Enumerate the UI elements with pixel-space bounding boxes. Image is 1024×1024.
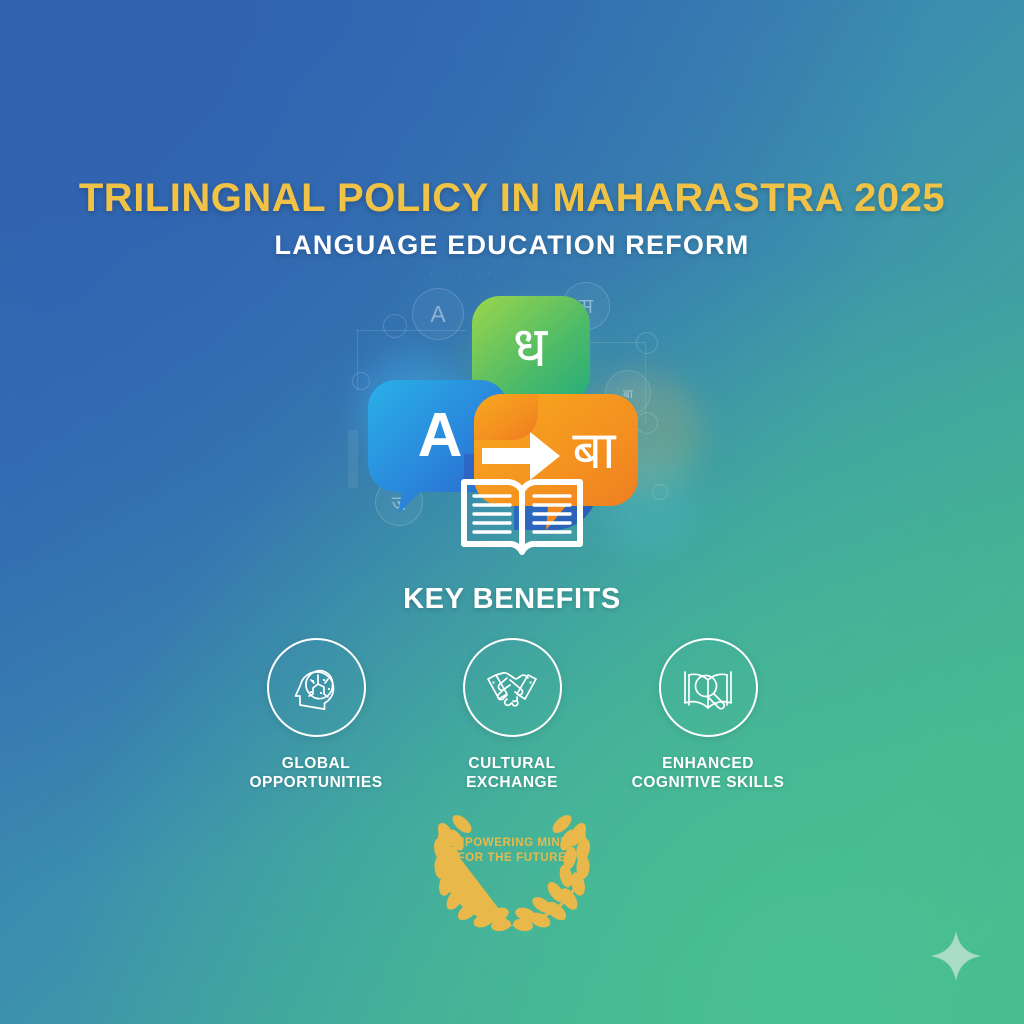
badge-text-line2: FOR THE FUTURE — [412, 851, 612, 866]
benefit-label-line2: EXCHANGE — [466, 773, 558, 792]
brain-head-icon-circle — [267, 638, 366, 737]
benefit-item-global-opportunities[interactable]: GLOBAL OPPORTUNITIES — [232, 638, 400, 792]
badge-text: EMPOWERING MINDS FOR THE FUTURE — [412, 836, 612, 866]
translation-emblem: ध A बा — [352, 276, 672, 572]
benefits-list: GLOBAL OPPORTUNITIES — [232, 638, 792, 792]
infographic-poster: A स ज बा · · · · · · · · · · · · · TRILI… — [0, 0, 1024, 1024]
laurel-badge: EMPOWERING MINDS FOR THE FUTURE — [412, 798, 612, 933]
benefit-label-line2: COGNITIVE SKILLS — [632, 773, 785, 792]
english-bubble-letter: A — [418, 401, 463, 470]
handshake-icon — [482, 658, 542, 718]
benefit-label-cultural-exchange: CULTURAL EXCHANGE — [466, 754, 558, 792]
benefit-label-line1: GLOBAL — [249, 754, 382, 773]
page-subtitle: LANGUAGE EDUCATION REFORM — [0, 229, 1024, 261]
benefit-label-line2: OPPORTUNITIES — [249, 773, 382, 792]
book-magnifier-icon — [679, 659, 737, 717]
handshake-icon-circle — [463, 638, 562, 737]
benefit-label-global-opportunities: GLOBAL OPPORTUNITIES — [249, 754, 382, 792]
benefit-item-enhanced-cognitive-skills[interactable]: ENHANCED COGNITIVE SKILLS — [624, 638, 792, 792]
hindi-bubble-letter: ध — [513, 315, 549, 380]
sparkle-decoration — [930, 930, 982, 982]
page-title: TRILINGNAL POLICY IN MAHARASTRA 2025 — [0, 176, 1024, 220]
benefit-label-line1: CULTURAL — [466, 754, 558, 773]
benefit-item-cultural-exchange[interactable]: CULTURAL EXCHANGE — [428, 638, 596, 792]
benefit-label-enhanced-cognitive-skills: ENHANCED COGNITIVE SKILLS — [632, 754, 785, 792]
title-block: TRILINGNAL POLICY IN MAHARASTRA 2025 LAN… — [0, 176, 1024, 261]
marathi-bubble-letter: बा — [572, 421, 617, 481]
brain-head-icon — [287, 659, 345, 717]
badge-text-line1: EMPOWERING MINDS — [412, 836, 612, 851]
benefit-label-line1: ENHANCED — [632, 754, 785, 773]
key-benefits-heading: KEY BENEFITS — [0, 583, 1024, 616]
translation-emblem-svg: ध A बा — [352, 276, 672, 572]
four-point-sparkle-icon — [930, 930, 982, 982]
book-magnifier-icon-circle — [659, 638, 758, 737]
